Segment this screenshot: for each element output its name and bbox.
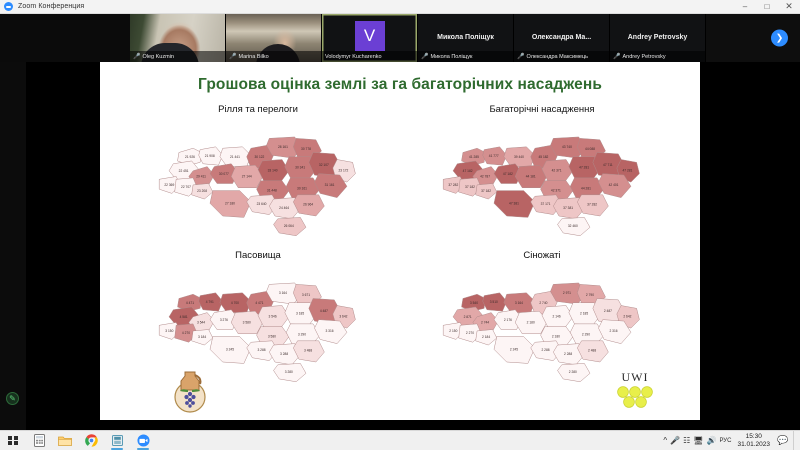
map-region-value: 29 411	[196, 175, 206, 179]
participant-label: Volodymyr Kucharenko	[322, 51, 417, 62]
map-cell-bahatorichni: Багаторічні насадження 41 28541 77739 44…	[392, 104, 692, 242]
amphora-grapes-logo	[168, 368, 212, 414]
participant-tile-mykola-polishchuk[interactable]: Микола Поліщук 🎤 Микола Поліщук	[418, 14, 514, 62]
map-region-value: 24 464	[279, 206, 289, 210]
map-region-value: 3 642	[339, 315, 347, 319]
map-region-value: 37 282	[448, 183, 458, 187]
participant-label: 🎤 Олександра Максимець	[514, 51, 609, 62]
map-region-value: 22 707	[181, 185, 191, 189]
map-region-value: 47 182	[463, 169, 473, 173]
map-cell-pasovyshcha: Пасовища 4 4714 7914 7004 4713 1643 6714…	[108, 250, 408, 388]
participant-label: 🎤 Oleg Kuzmin	[130, 51, 225, 62]
map-region-value: 4 487	[320, 309, 328, 313]
map-region-value: 2 288	[541, 348, 549, 352]
clock-date: 31.01.2023	[737, 441, 770, 448]
language-indicator[interactable]: РУС	[719, 438, 731, 444]
map-region-value: 44 088	[585, 147, 595, 151]
map-region-value: 21 441	[230, 155, 240, 159]
map-region-value: 47 281	[579, 166, 589, 170]
map-region-value: 41 777	[489, 154, 499, 158]
display-icon[interactable]: 🖥	[693, 436, 703, 445]
participant-name: Marina Bilko	[238, 54, 268, 60]
map-region-value: 2 184	[482, 335, 490, 339]
map-region-value: 4 791	[206, 300, 214, 304]
zoom-icon	[4, 2, 13, 11]
participant-label: 🎤 Микола Поліщук	[418, 51, 513, 62]
choropleth-map-sinozhati: 3 5403 5103 1642 7402 9712 7902 8712 744…	[392, 266, 692, 386]
show-desktop-button[interactable]	[793, 431, 798, 450]
clock-time: 15:30	[737, 433, 770, 440]
map-cell-sinozhati: Сіножаті 3 5403 5103 1642 7402 9712 7902…	[392, 250, 692, 388]
participant-label: 🎤 Andrey Petrovsky	[610, 51, 705, 62]
map-region-value: 44 281	[581, 186, 591, 190]
map-cell-rillya: Рілля та перелоги 21 92621 90821 44130 1…	[108, 104, 408, 242]
map-region-value: 30 341	[295, 166, 305, 170]
map-region-value: 47 711	[603, 163, 613, 167]
notification-icon[interactable]: 💬	[776, 434, 790, 448]
map-region-value: 4 471	[186, 301, 194, 305]
zoom-title-bar: Zoom Конференция – □ ✕	[0, 0, 800, 14]
participant-name: Andrey Petrovsky	[622, 54, 665, 60]
map-region-value: 22 369	[164, 183, 174, 187]
map-region-value: 32 107	[319, 163, 329, 167]
participant-tile-oleksandra-maksymets[interactable]: Олександра Ма... 🎤 Олександра Максимець	[514, 14, 610, 62]
map-region-value: 37 182	[481, 189, 491, 193]
map-region-value: 32 460	[568, 224, 578, 228]
window-title: Zoom Конференция	[18, 3, 84, 10]
map-region-value: 37 182	[465, 185, 475, 189]
map-region-value: 28 161	[278, 145, 288, 149]
participant-tile-andrey-petrovsky[interactable]: Andrey Petrovsky 🎤 Andrey Petrovsky	[610, 14, 706, 62]
google-chrome-icon[interactable]	[78, 431, 104, 450]
clock[interactable]: 15:30 31.01.2023	[737, 433, 770, 448]
participant-label: 🎤 Marina Bilko	[226, 51, 321, 62]
participant-filmstrip: 🎤 Oleg Kuzmin 🎤 Marina Bilko V Volodymyr…	[0, 14, 800, 62]
map-region-value: 2 280	[569, 370, 577, 374]
map-region-value: 3 546	[269, 315, 277, 319]
map-region-value: 42 371	[551, 189, 561, 193]
windows-start-icon[interactable]	[0, 431, 26, 450]
maximize-button[interactable]: □	[756, 0, 778, 14]
minimize-button[interactable]: –	[734, 0, 756, 14]
presentation-slide: Грошова оцінка землі за га багаторічних …	[100, 62, 700, 420]
map-region-value: 39 440	[514, 155, 524, 159]
map-region-value: 3 276	[220, 318, 228, 322]
map-region-value: 47 381	[509, 201, 519, 205]
slide-title: Грошова оцінка землі за га багаторічних …	[100, 76, 700, 94]
file-explorer-icon[interactable]	[52, 431, 78, 450]
chevron-up-icon[interactable]: ^	[663, 436, 667, 445]
chrome-glyph	[85, 434, 98, 447]
map-region-value: 30 778	[301, 147, 311, 151]
map-region-value: 2 180	[552, 335, 560, 339]
map-region-value: 2 740	[539, 301, 547, 305]
map-region-value: 4 700	[231, 301, 239, 305]
map-region-value: 3 510	[490, 300, 498, 304]
ukraine-map-svg: 3 5403 5103 1642 7402 9712 7902 8712 744…	[392, 266, 692, 386]
map-region-value: 41 285	[469, 155, 479, 159]
participant-name: Микола Поліщук	[430, 54, 472, 60]
map-region-value: 26 064	[284, 224, 294, 228]
map-region-value: 45 182	[538, 155, 548, 159]
choropleth-map-bahatorichni: 41 28541 77739 44045 18243 74044 08847 1…	[392, 120, 692, 240]
map-region-value: 3 580	[268, 335, 276, 339]
participant-name: Oleg Kuzmin	[142, 54, 174, 60]
map-region-value: 23 640	[257, 202, 267, 206]
map-region-value: 42 371	[552, 169, 562, 173]
map-region-value: 3 288	[280, 352, 288, 356]
calculator-glyph	[34, 434, 45, 447]
zoom-glyph	[137, 434, 150, 447]
map-region-value: 37 171	[541, 202, 551, 206]
participant-tile-oleg-kuzmin[interactable]: 🎤 Oleg Kuzmin	[130, 14, 226, 62]
map-region-value: 2 180	[527, 321, 535, 325]
participant-name: Volodymyr Kucharenko	[325, 54, 382, 60]
mic-icon[interactable]: 🎤	[670, 436, 680, 445]
map-region-value: 3 544	[197, 321, 205, 325]
mic-muted-icon: 🎤	[613, 54, 620, 60]
map-region-value: 3 290	[298, 332, 306, 336]
map-caption: Пасовища	[108, 250, 408, 261]
mic-muted-icon: 🎤	[229, 54, 236, 60]
map-region-value: 3 288	[257, 348, 265, 352]
map-region-value: 21 908	[205, 154, 215, 158]
map-caption: Багаторічні насадження	[392, 104, 692, 115]
map-region-value: 37 282	[587, 203, 597, 207]
app-glyph	[112, 435, 123, 446]
avatar: V	[355, 21, 385, 51]
map-region-value: 47 182	[503, 172, 513, 176]
map-region-value: 31 161	[325, 183, 335, 187]
window-controls: – □ ✕	[734, 0, 800, 14]
close-button[interactable]: ✕	[778, 0, 800, 14]
volume-icon[interactable]: 🔊	[706, 436, 716, 445]
pen-icon[interactable]: ✎	[6, 392, 19, 405]
map-region-value: 2 316	[609, 329, 617, 333]
map-region-value: 3 150	[165, 329, 173, 333]
map-caption: Рілля та перелоги	[108, 104, 408, 115]
map-region-value: 3 245	[226, 347, 234, 351]
map-region-value: 2 270	[466, 331, 474, 335]
map-region-value: 2 176	[504, 318, 512, 322]
ukraine-map-svg: 41 28541 77739 44045 18243 74044 08847 1…	[392, 120, 692, 240]
map-region-value: 2 487	[604, 309, 612, 313]
folder-glyph	[58, 435, 72, 446]
map-region-value: 2 744	[481, 321, 489, 325]
map-region-value: 2 790	[586, 293, 594, 297]
participant-tile-volodymyr-kucharenko[interactable]: V Volodymyr Kucharenko	[322, 14, 418, 62]
map-region-value: 2 245	[510, 347, 518, 351]
map-region-value: 44 181	[526, 175, 536, 179]
map-region-value: 2 288	[564, 352, 572, 356]
map-region-value: 2 185	[580, 312, 588, 316]
map-region-value: 3 580	[243, 321, 251, 325]
network-icon[interactable]: ☷	[683, 436, 690, 445]
map-region-value: 3 280	[285, 370, 293, 374]
uwi-grapes-icon	[610, 385, 660, 411]
map-region-value: 2 150	[449, 329, 457, 333]
amphora-grapes-logo-svg	[168, 368, 212, 414]
map-region-value: 23 208	[197, 189, 207, 193]
screen-root: Zoom Конференция – □ ✕ 🎤 Oleg Kuzmin 🎤 M…	[0, 0, 800, 450]
map-region-value: 21 926	[185, 155, 195, 159]
map-region-value: 37 381	[563, 206, 573, 210]
map-region-value: 3 316	[325, 329, 333, 333]
choropleth-map-pasovyshcha: 4 4714 7914 7004 4713 1643 6714 5813 544…	[108, 266, 408, 386]
map-region-value: 2 290	[582, 332, 590, 336]
uwi-logo-text: UWI	[622, 370, 649, 385]
chevron-right-icon[interactable]: ❯	[771, 30, 788, 47]
map-region-value: 2 146	[553, 315, 561, 319]
map-region-value: 43 740	[562, 145, 572, 149]
map-region-value: 2 971	[563, 291, 571, 295]
map-region-value: 4 581	[180, 315, 188, 319]
system-tray: ^ 🎤 ☷ 🖥 🔊 РУС 15:30 31.01.2023 💬	[663, 431, 800, 450]
map-region-value: 3 184	[198, 335, 206, 339]
start-grid	[8, 436, 18, 446]
map-caption: Сіножаті	[392, 250, 692, 261]
map-region-value: 2 871	[464, 315, 472, 319]
ukraine-map-svg: 4 4714 7914 7004 4713 1643 6714 5813 544…	[108, 266, 408, 386]
map-region-value: 30 122	[254, 155, 264, 159]
map-region-value: 4 471	[255, 301, 263, 305]
app-icon[interactable]	[104, 431, 130, 450]
map-region-value: 30 161	[297, 186, 307, 190]
filmstrip-left-spacer	[0, 14, 130, 62]
ukraine-map-svg: 21 92621 90821 44130 12228 16130 77822 4…	[108, 120, 408, 240]
map-region-value: 27 144	[242, 175, 252, 179]
map-region-value: 27 180	[225, 201, 235, 205]
participant-tile-marina-bilko[interactable]: 🎤 Marina Bilko	[226, 14, 322, 62]
map-region-value: 3 185	[296, 312, 304, 316]
shared-screen-stage: Грошова оцінка землі за га багаторічних …	[0, 62, 800, 430]
map-region-value: 3 164	[279, 291, 287, 295]
windows-taskbar: ^ 🎤 ☷ 🖥 🔊 РУС 15:30 31.01.2023 💬	[0, 430, 800, 450]
map-region-value: 31 448	[267, 189, 277, 193]
mic-muted-icon: 🎤	[133, 54, 140, 60]
map-region-value: 3 540	[470, 301, 478, 305]
map-region-value: 3 488	[304, 349, 312, 353]
map-region-value: 2 642	[623, 315, 631, 319]
annotation-rail: ✎	[0, 62, 26, 430]
map-region-value: 47 281	[622, 169, 632, 173]
map-region-value: 26 964	[303, 203, 313, 207]
map-region-value: 3 164	[515, 301, 523, 305]
map-region-value: 2 488	[588, 349, 596, 353]
choropleth-map-rillya: 21 92621 90821 44130 12228 16130 77822 4…	[108, 120, 408, 240]
mic-muted-icon: 🎤	[517, 54, 524, 60]
calculator-icon[interactable]	[26, 431, 52, 450]
uwi-grapes-logo: UWI	[604, 370, 666, 414]
map-region-value: 3 671	[302, 293, 310, 297]
map-region-value: 4 270	[182, 331, 190, 335]
map-region-value: 33 140	[268, 169, 278, 173]
map-region-value: 23 172	[338, 169, 348, 173]
zoom-taskbar-icon[interactable]	[130, 431, 156, 450]
map-region-value: 42 787	[480, 175, 490, 179]
mic-muted-icon: 🎤	[421, 54, 428, 60]
map-region-value: 42 401	[609, 183, 619, 187]
map-region-value: 22 451	[179, 169, 189, 173]
participant-name: Олександра Максимець	[526, 54, 588, 60]
map-region-value: 30 077	[219, 172, 229, 176]
